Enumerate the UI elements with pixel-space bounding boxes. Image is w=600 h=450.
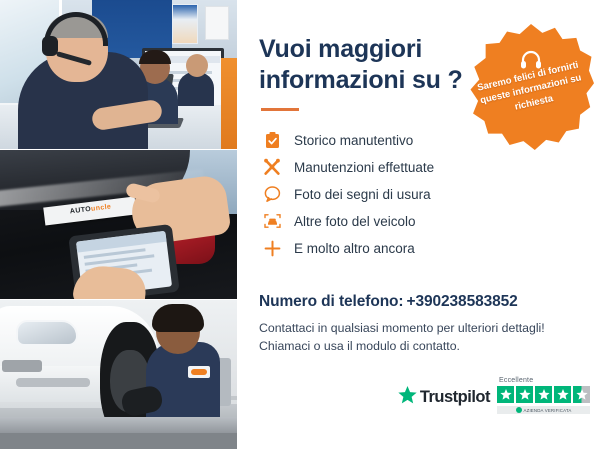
workshop-floor <box>0 433 237 449</box>
feature-label: Manutenzioni effettuate <box>294 160 434 175</box>
wrench-tools-icon <box>261 156 283 178</box>
car-frame-icon <box>261 210 283 232</box>
star-filled-icon <box>516 386 533 403</box>
rating-stars <box>497 386 590 403</box>
phone-number[interactable]: +390238583852 <box>407 293 518 310</box>
feature-item-manutenzioni-effettuate: Manutenzioni effettuate <box>261 154 578 180</box>
background-colleague-two-head <box>186 54 208 77</box>
feature-label: Storico manutentivo <box>294 133 413 148</box>
tablet-header-bar <box>76 231 167 253</box>
car-grille-upper <box>2 360 42 372</box>
car-grille-lower <box>16 378 90 387</box>
advertisement-banner: AUTOuncle <box>0 0 600 450</box>
title-divider <box>261 108 299 111</box>
star-filled-icon <box>554 386 571 403</box>
feature-label: Altre foto del veicolo <box>294 214 416 229</box>
mechanic-hair <box>152 304 204 332</box>
contact-instructions: Contattaci in qualsiasi momento per ulte… <box>259 319 578 356</box>
mechanic-tire-inspection-photo <box>0 300 237 449</box>
wall-poster <box>172 4 198 44</box>
trustpilot-rating-block: Eccellente <box>497 377 590 414</box>
phone-label: Numero di telefono: <box>259 293 404 310</box>
phone-line: Numero di telefono:+390238583852 <box>259 293 578 311</box>
content-panel: Vuoi maggioriinformazioni su ? Saremo fe… <box>237 0 600 450</box>
callout-starburst-badge: Saremo felici di fornirti queste informa… <box>468 24 594 150</box>
verified-company-badge: AZIENDA VERIFICATA <box>497 406 590 414</box>
orange-accent-strip <box>221 58 237 149</box>
speech-bubble-icon <box>261 183 283 205</box>
star-filled-icon <box>535 386 552 403</box>
feature-label: E molto altro ancora <box>294 241 415 256</box>
star-icon <box>398 386 417 409</box>
uniform-logo-badge <box>188 366 210 378</box>
wall-notice <box>205 6 229 40</box>
trustpilot-logo: Trustpilot <box>398 386 490 414</box>
contact-line-1: Contattaci in qualsiasi momento per ulte… <box>259 319 578 337</box>
star-filled-icon <box>497 386 514 403</box>
call-center-agent-photo <box>0 0 237 149</box>
page-title: Vuoi maggioriinformazioni su ? <box>259 34 464 95</box>
clipboard-check-icon <box>261 129 283 151</box>
background-colleague-two <box>178 72 214 106</box>
feature-item-altre-foto-veicolo: Altre foto del veicolo <box>261 208 578 234</box>
plus-icon <box>261 237 283 259</box>
trustpilot-badge[interactable]: Trustpilot Eccellente <box>398 377 590 414</box>
feature-item-molto-altro: E molto altro ancora <box>261 235 578 261</box>
star-half-icon <box>573 386 590 403</box>
sticker-brand-text: AUTOuncle <box>70 203 112 215</box>
car-headlight <box>16 320 78 346</box>
verified-label: AZIENDA VERIFICATA <box>524 408 572 413</box>
contact-line-2: Chiamaci o usa il modulo di contatto. <box>259 337 578 355</box>
sticker-on-car-photo: AUTOuncle <box>0 150 237 299</box>
trustpilot-wordmark: Trustpilot <box>420 388 490 407</box>
photo-column: AUTOuncle <box>0 0 237 450</box>
feature-item-foto-segni-usura: Foto dei segni di usura <box>261 181 578 207</box>
feature-label: Foto dei segni di usura <box>294 187 431 202</box>
rating-label: Eccellente <box>499 377 533 384</box>
verified-check-icon <box>516 407 522 413</box>
